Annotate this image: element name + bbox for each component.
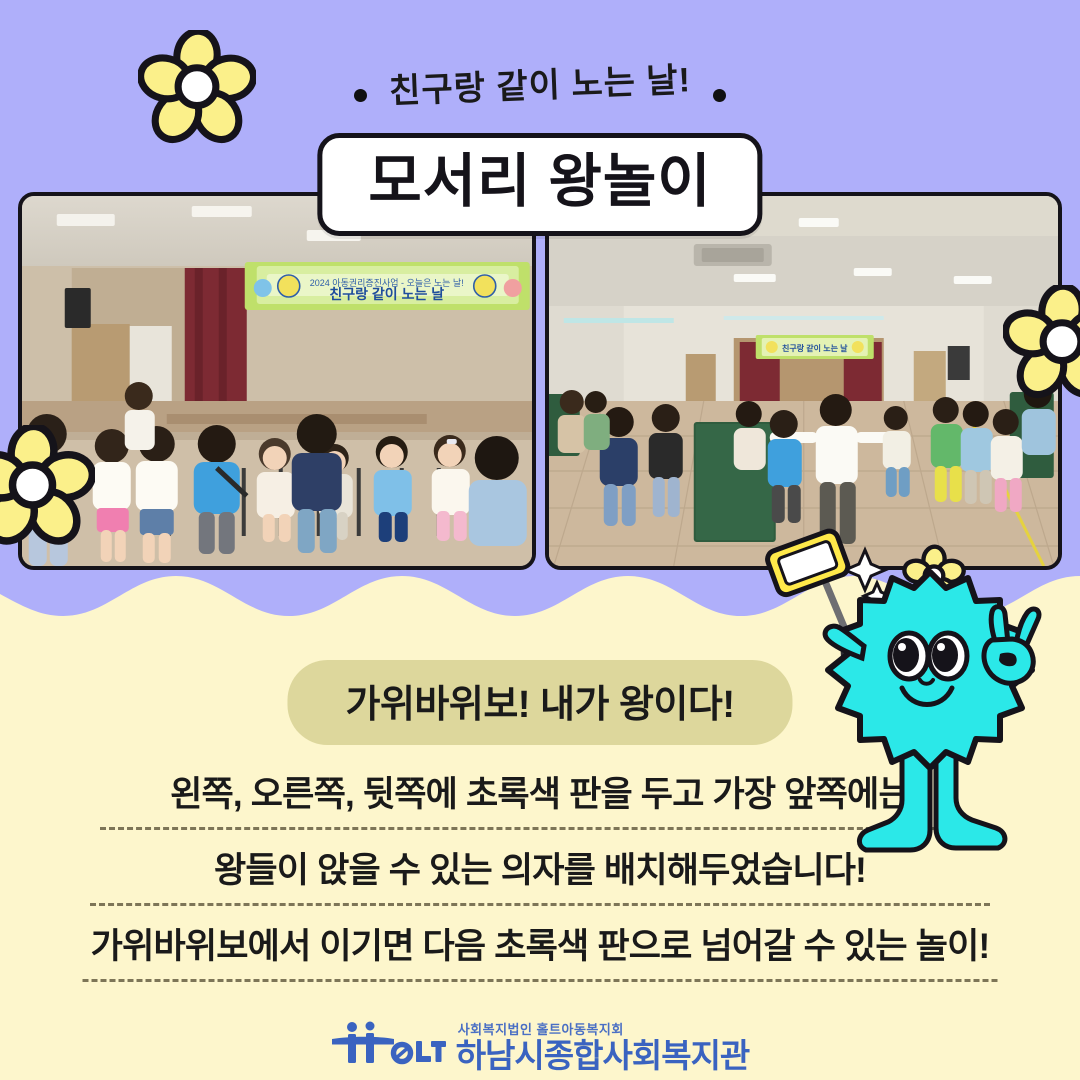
footer-logo: 사회복지법인 홀트아동복지회 하남시종합사회복지관 <box>0 1019 1080 1072</box>
dashed-divider-3 <box>83 979 998 982</box>
org-main-name: 하남시종합사회복지관 <box>456 1039 750 1072</box>
subtitle-text: 친구랑 같이 노는 날! <box>388 52 692 113</box>
description-line-3: 가위바위보에서 이기면 다음 초록색 판으로 넘어갈 수 있는 놀이! <box>0 914 1080 990</box>
flower-right-edge-icon <box>1003 285 1080 403</box>
footer-logo-text: 사회복지법인 홀트아동복지회 하남시종합사회복지관 <box>456 1022 750 1072</box>
holt-logo-icon <box>331 1019 446 1072</box>
highlight-banner: 가위바위보! 내가 왕이다! <box>287 660 792 745</box>
page-title: 모서리 왕놀이 <box>368 152 711 213</box>
org-sub-name: 사회복지법인 홀트아동복지회 <box>458 1022 624 1038</box>
photo-children-seated-hall: 2024 아동권리증진사업 - 오늘은 노는 날! 친구랑 같이 노는 날 <box>18 192 536 570</box>
svg-text:친구랑 같이 노는 날: 친구랑 같이 노는 날 <box>329 286 444 302</box>
promo-card: 친구랑 같이 노는 날! 모서리 왕놀이 <box>0 0 1080 1080</box>
description-line-3-text: 가위바위보에서 이기면 다음 초록색 판으로 넘어갈 수 있는 놀이! <box>0 918 1080 969</box>
photo-children-green-boards: 친구랑 같이 노는 날 <box>545 192 1063 570</box>
cyan-star-character <box>760 528 1080 863</box>
flower-left-edge-icon <box>0 425 95 550</box>
decorative-dot-right-icon <box>713 89 726 102</box>
decorative-dot-left-icon <box>354 89 367 102</box>
flower-top-left-icon <box>138 30 256 148</box>
svg-text:친구랑 같이 노는 날: 친구랑 같이 노는 날 <box>781 343 847 353</box>
photo-gallery: 2024 아동권리증진사업 - 오늘은 노는 날! 친구랑 같이 노는 날 <box>18 192 1062 570</box>
highlight-banner-text: 가위바위보! 내가 왕이다! <box>345 673 734 728</box>
title-box: 모서리 왕놀이 <box>317 133 762 236</box>
peace-sign-hand-icon <box>984 607 1039 684</box>
dashed-divider-2 <box>90 903 990 906</box>
